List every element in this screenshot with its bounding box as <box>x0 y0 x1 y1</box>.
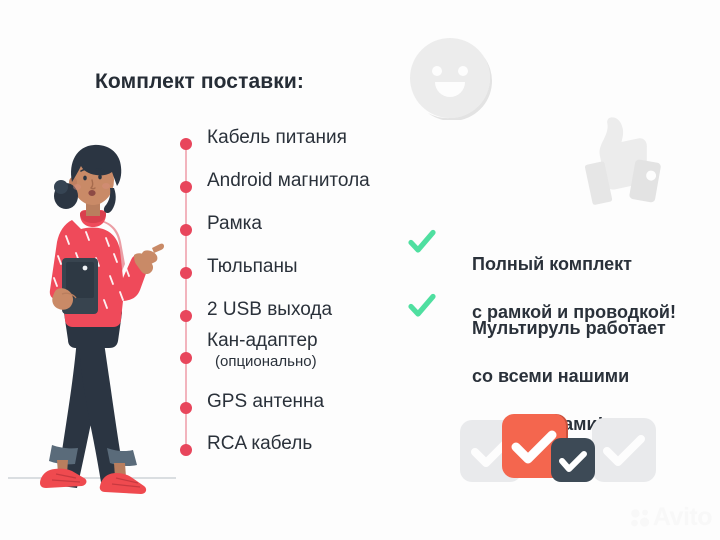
list-item-label: Кан-адаптер (опционально) <box>207 330 318 371</box>
list-item-sublabel: (опционально) <box>215 352 318 371</box>
list-item-label: GPS антенна <box>207 391 324 413</box>
list-item-label: Тюльпаны <box>207 256 298 278</box>
avito-logo-icon <box>629 507 651 529</box>
checkbox-card-gray-right <box>592 418 656 482</box>
poster-canvas: Комплект поставки: <box>0 0 720 540</box>
checkbox-cards-group <box>458 398 658 503</box>
statement-line-1: Полный комплект <box>472 254 632 274</box>
check-icon <box>408 229 436 255</box>
avito-watermark: Avito <box>629 505 712 530</box>
thumbs-up-icon <box>572 116 666 212</box>
list-item-label: 2 USB выхода <box>207 299 332 321</box>
supply-list: Кабель питания Android магнитола Рамка Т… <box>178 130 438 470</box>
avito-wordmark: Avito <box>653 505 712 530</box>
page-title: Комплект поставки: <box>95 70 304 94</box>
list-item-label: Кабель питания <box>207 127 347 149</box>
list-bullet <box>180 138 192 150</box>
list-item-label: RCA кабель <box>207 433 312 455</box>
list-bullet <box>180 352 192 364</box>
list-bullet <box>180 224 192 236</box>
list-bullet <box>180 267 192 279</box>
statement-line-1: Мультируль работает <box>472 318 666 338</box>
list-item-label: Android магнитола <box>207 170 370 192</box>
list-bullet <box>180 181 192 193</box>
list-item-label-main: Кан-адаптер <box>207 330 318 351</box>
statement-line-2: со всеми нашими <box>472 366 629 386</box>
list-item-label: Рамка <box>207 213 262 235</box>
smiley-face-icon <box>408 36 492 120</box>
list-bullet <box>180 310 192 322</box>
list-bullet <box>180 444 192 456</box>
list-bullet <box>180 402 192 414</box>
checkbox-card-dark <box>551 438 595 482</box>
check-icon <box>408 293 436 319</box>
woman-pointing-illustration <box>6 108 178 500</box>
